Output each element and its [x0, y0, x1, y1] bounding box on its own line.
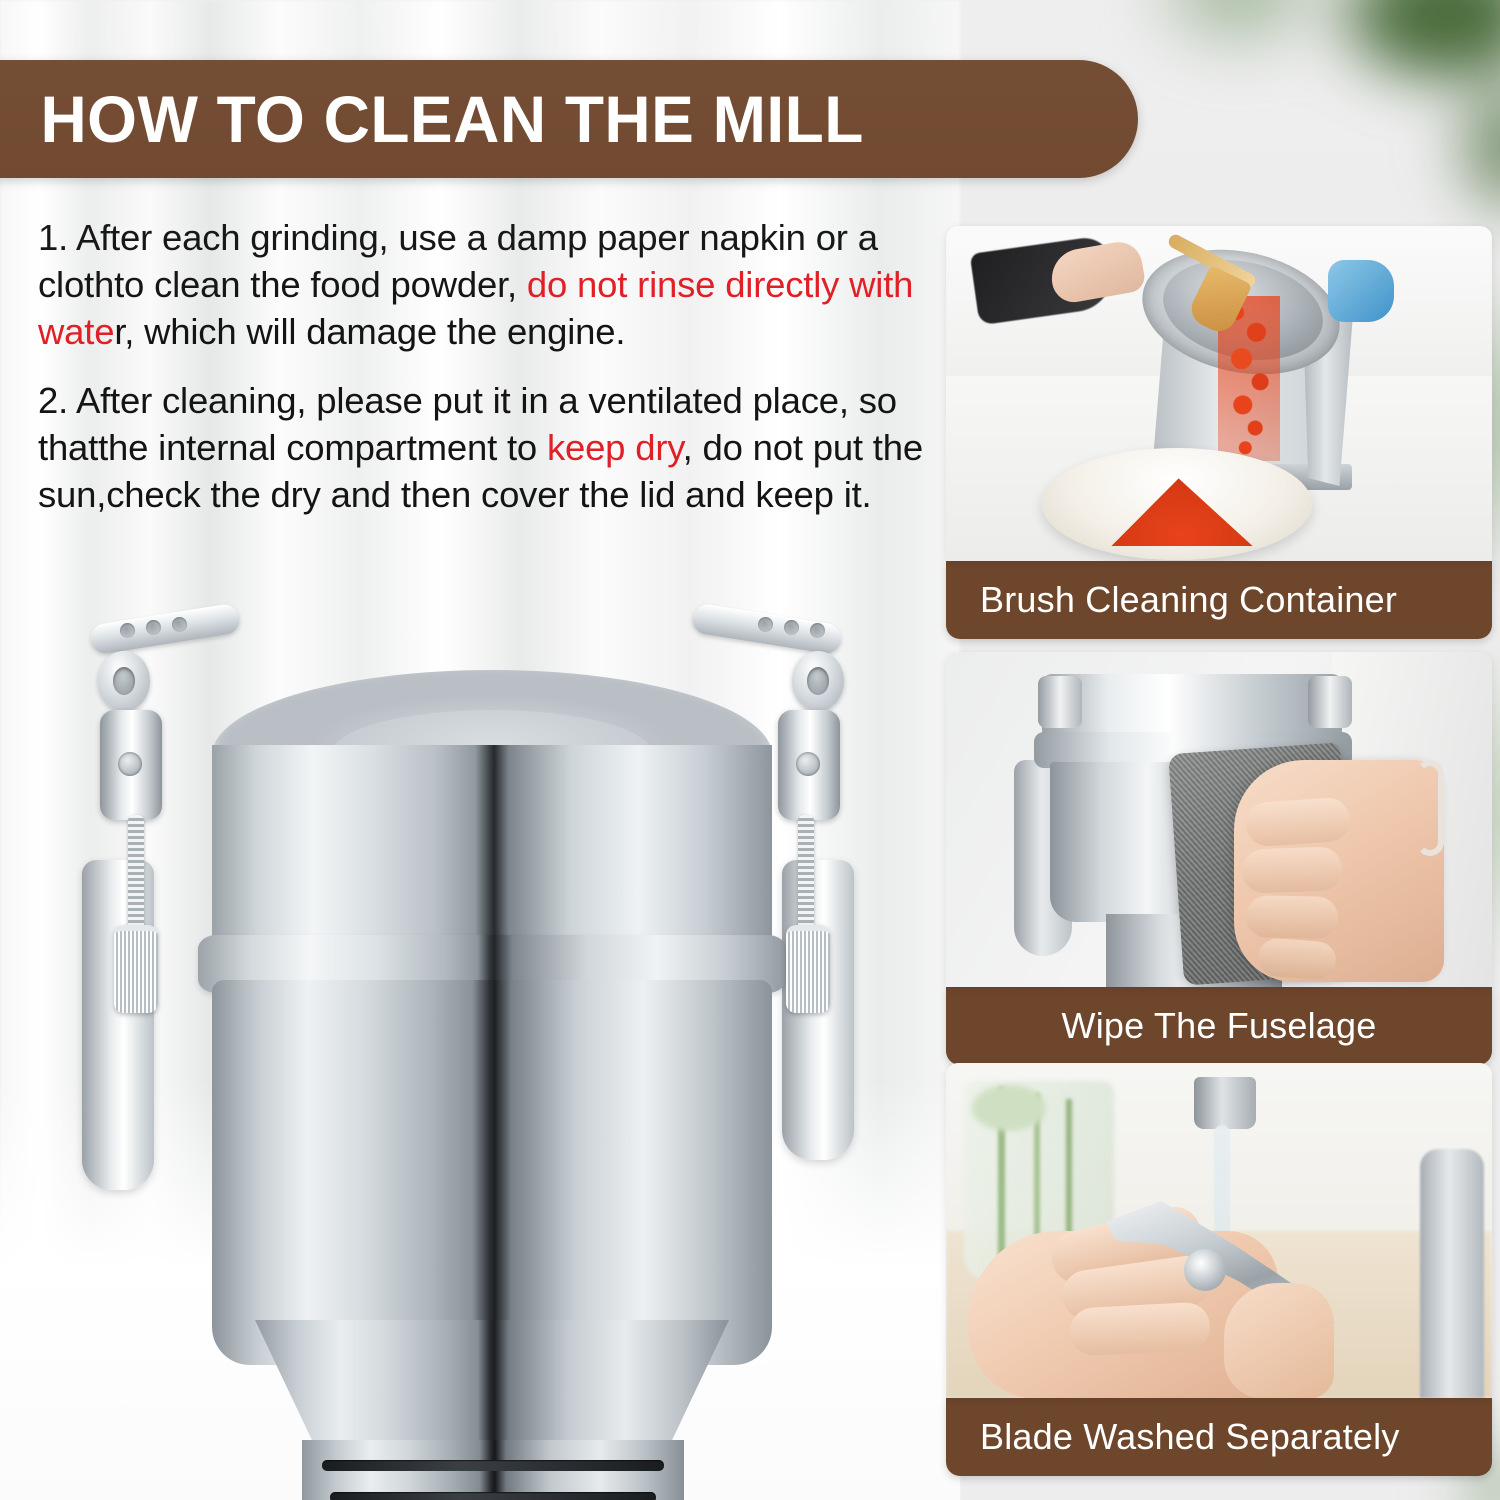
- faucet-spout: [1194, 1077, 1256, 1129]
- finger: [1246, 895, 1339, 939]
- plant-leaf: [972, 1085, 1046, 1131]
- lever-hole: [784, 620, 799, 635]
- left-knurled-thumb-nut: [114, 925, 158, 1013]
- lever-hole: [172, 617, 187, 632]
- instruction-text: r, which will damage the engine.: [114, 311, 625, 352]
- caption-label: Brush Cleaning Container: [946, 582, 1397, 618]
- blue-knob: [1328, 260, 1394, 322]
- thumb: [1224, 1283, 1334, 1398]
- lever-hole: [146, 620, 161, 635]
- right-clamp: [1308, 676, 1352, 728]
- lever-knuckle: [792, 651, 844, 711]
- instruction-highlight: keep dry: [547, 427, 683, 468]
- lever-knuckle: [98, 651, 150, 711]
- right-knurled-thumb-nut: [786, 925, 830, 1013]
- page-title: HOW TO CLEAN THE MILL: [0, 86, 864, 152]
- photo-blade-washed-separately: [946, 1063, 1492, 1398]
- lever-arm: [89, 602, 242, 655]
- photo-brush-cleaning-container: [946, 226, 1492, 561]
- grinding-bowl: [212, 980, 772, 1365]
- mill-lid: [1042, 674, 1342, 740]
- blade-center-hub: [1184, 1249, 1226, 1291]
- finger: [1241, 846, 1342, 893]
- green-foliage-bokeh-top-right: [1110, 0, 1500, 230]
- instruction-item-2: 2. After cleaning, please put it in a ve…: [38, 377, 928, 518]
- lever-hole: [810, 623, 825, 638]
- vent-slot: [322, 1460, 664, 1471]
- header-banner: HOW TO CLEAN THE MILL: [0, 60, 1138, 178]
- background-appliance: [1420, 1149, 1484, 1398]
- instruction-item-1: 1. After each grinding, use a damp paper…: [38, 214, 928, 355]
- caption-bar-wipe-the-fuselage: Wipe The Fuselage: [946, 987, 1492, 1065]
- finger: [1257, 937, 1337, 980]
- card-wipe-the-fuselage: Wipe The Fuselage: [946, 652, 1492, 1065]
- caption-label: Wipe The Fuselage: [1062, 1008, 1377, 1044]
- caption-bar-blade-washed-separately: Blade Washed Separately: [946, 1398, 1492, 1476]
- right-clamp-block: [778, 710, 840, 820]
- finger: [1245, 796, 1352, 847]
- lever-hole: [758, 617, 773, 632]
- instructions-list: 1. After each grinding, use a damp paper…: [38, 214, 928, 518]
- caption-label: Blade Washed Separately: [946, 1419, 1400, 1455]
- photo-wipe-the-fuselage: [946, 652, 1492, 987]
- grinding-bowl-taper: [255, 1320, 729, 1460]
- left-clamp: [1038, 676, 1082, 728]
- left-clamp-block: [100, 710, 162, 820]
- product-photo-grain-mill: [40, 560, 940, 1500]
- right-clamp-lever: [692, 596, 852, 716]
- card-blade-washed-separately: Blade Washed Separately: [946, 1063, 1492, 1476]
- caption-bar-brush-cleaning-container: Brush Cleaning Container: [946, 561, 1492, 639]
- lever-hole: [120, 623, 135, 638]
- finger: [1069, 1301, 1211, 1356]
- card-brush-cleaning-container: Brush Cleaning Container: [946, 226, 1492, 639]
- vent-slot: [330, 1492, 656, 1500]
- wrist-bracelet: [1416, 760, 1444, 856]
- lid-body: [212, 745, 772, 960]
- left-clamp-lever: [90, 596, 250, 716]
